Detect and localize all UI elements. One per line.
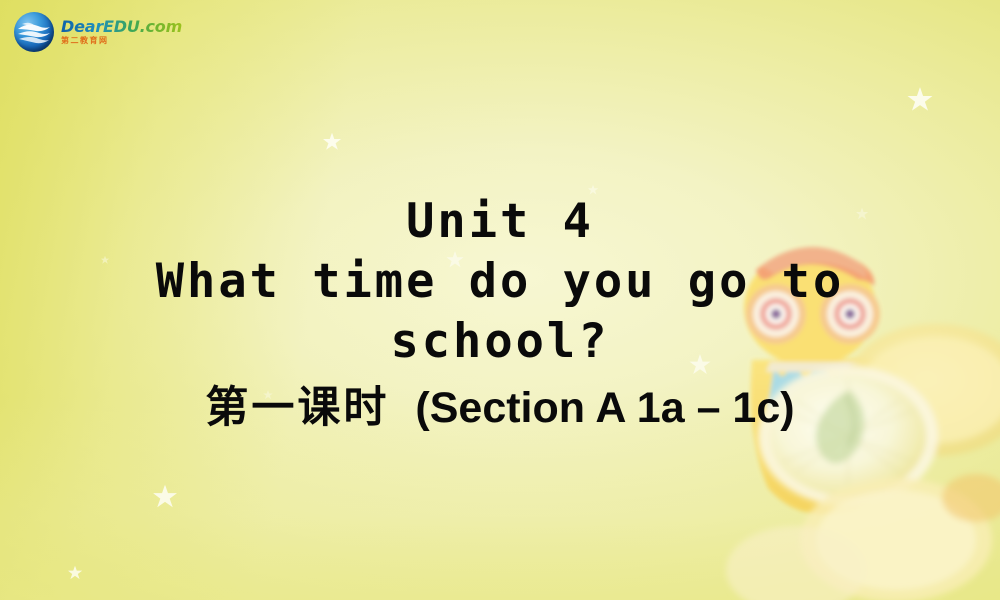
decorative-star-icon [323,133,342,152]
title-line-question-part1: What time do you go to [0,252,1000,312]
decorative-star-icon [907,87,933,113]
logo-brand-cn: 第二教育网 [61,37,182,45]
title-line-unit: Unit 4 [0,192,1000,252]
decorative-star-icon [153,485,178,510]
logo-brand-en: DearEDU.com [61,19,182,35]
dearedu-logo[interactable]: DearEDU.com 第二教育网 [14,12,182,52]
slide-title-block: Unit 4 What time do you go to school? 第一… [0,192,1000,436]
title-line-question-part2: school? [0,312,1000,372]
globe-wave-icon [14,12,54,52]
title-section-en: (Section A 1a – 1c) [415,384,794,432]
presentation-slide: DearEDU.com 第二教育网 Unit 4 What time do yo… [0,0,1000,600]
title-line-section: 第一课时(Section A 1a – 1c) [0,382,1000,436]
title-lesson-cn: 第一课时 [205,383,389,433]
decorative-star-icon [68,566,83,581]
